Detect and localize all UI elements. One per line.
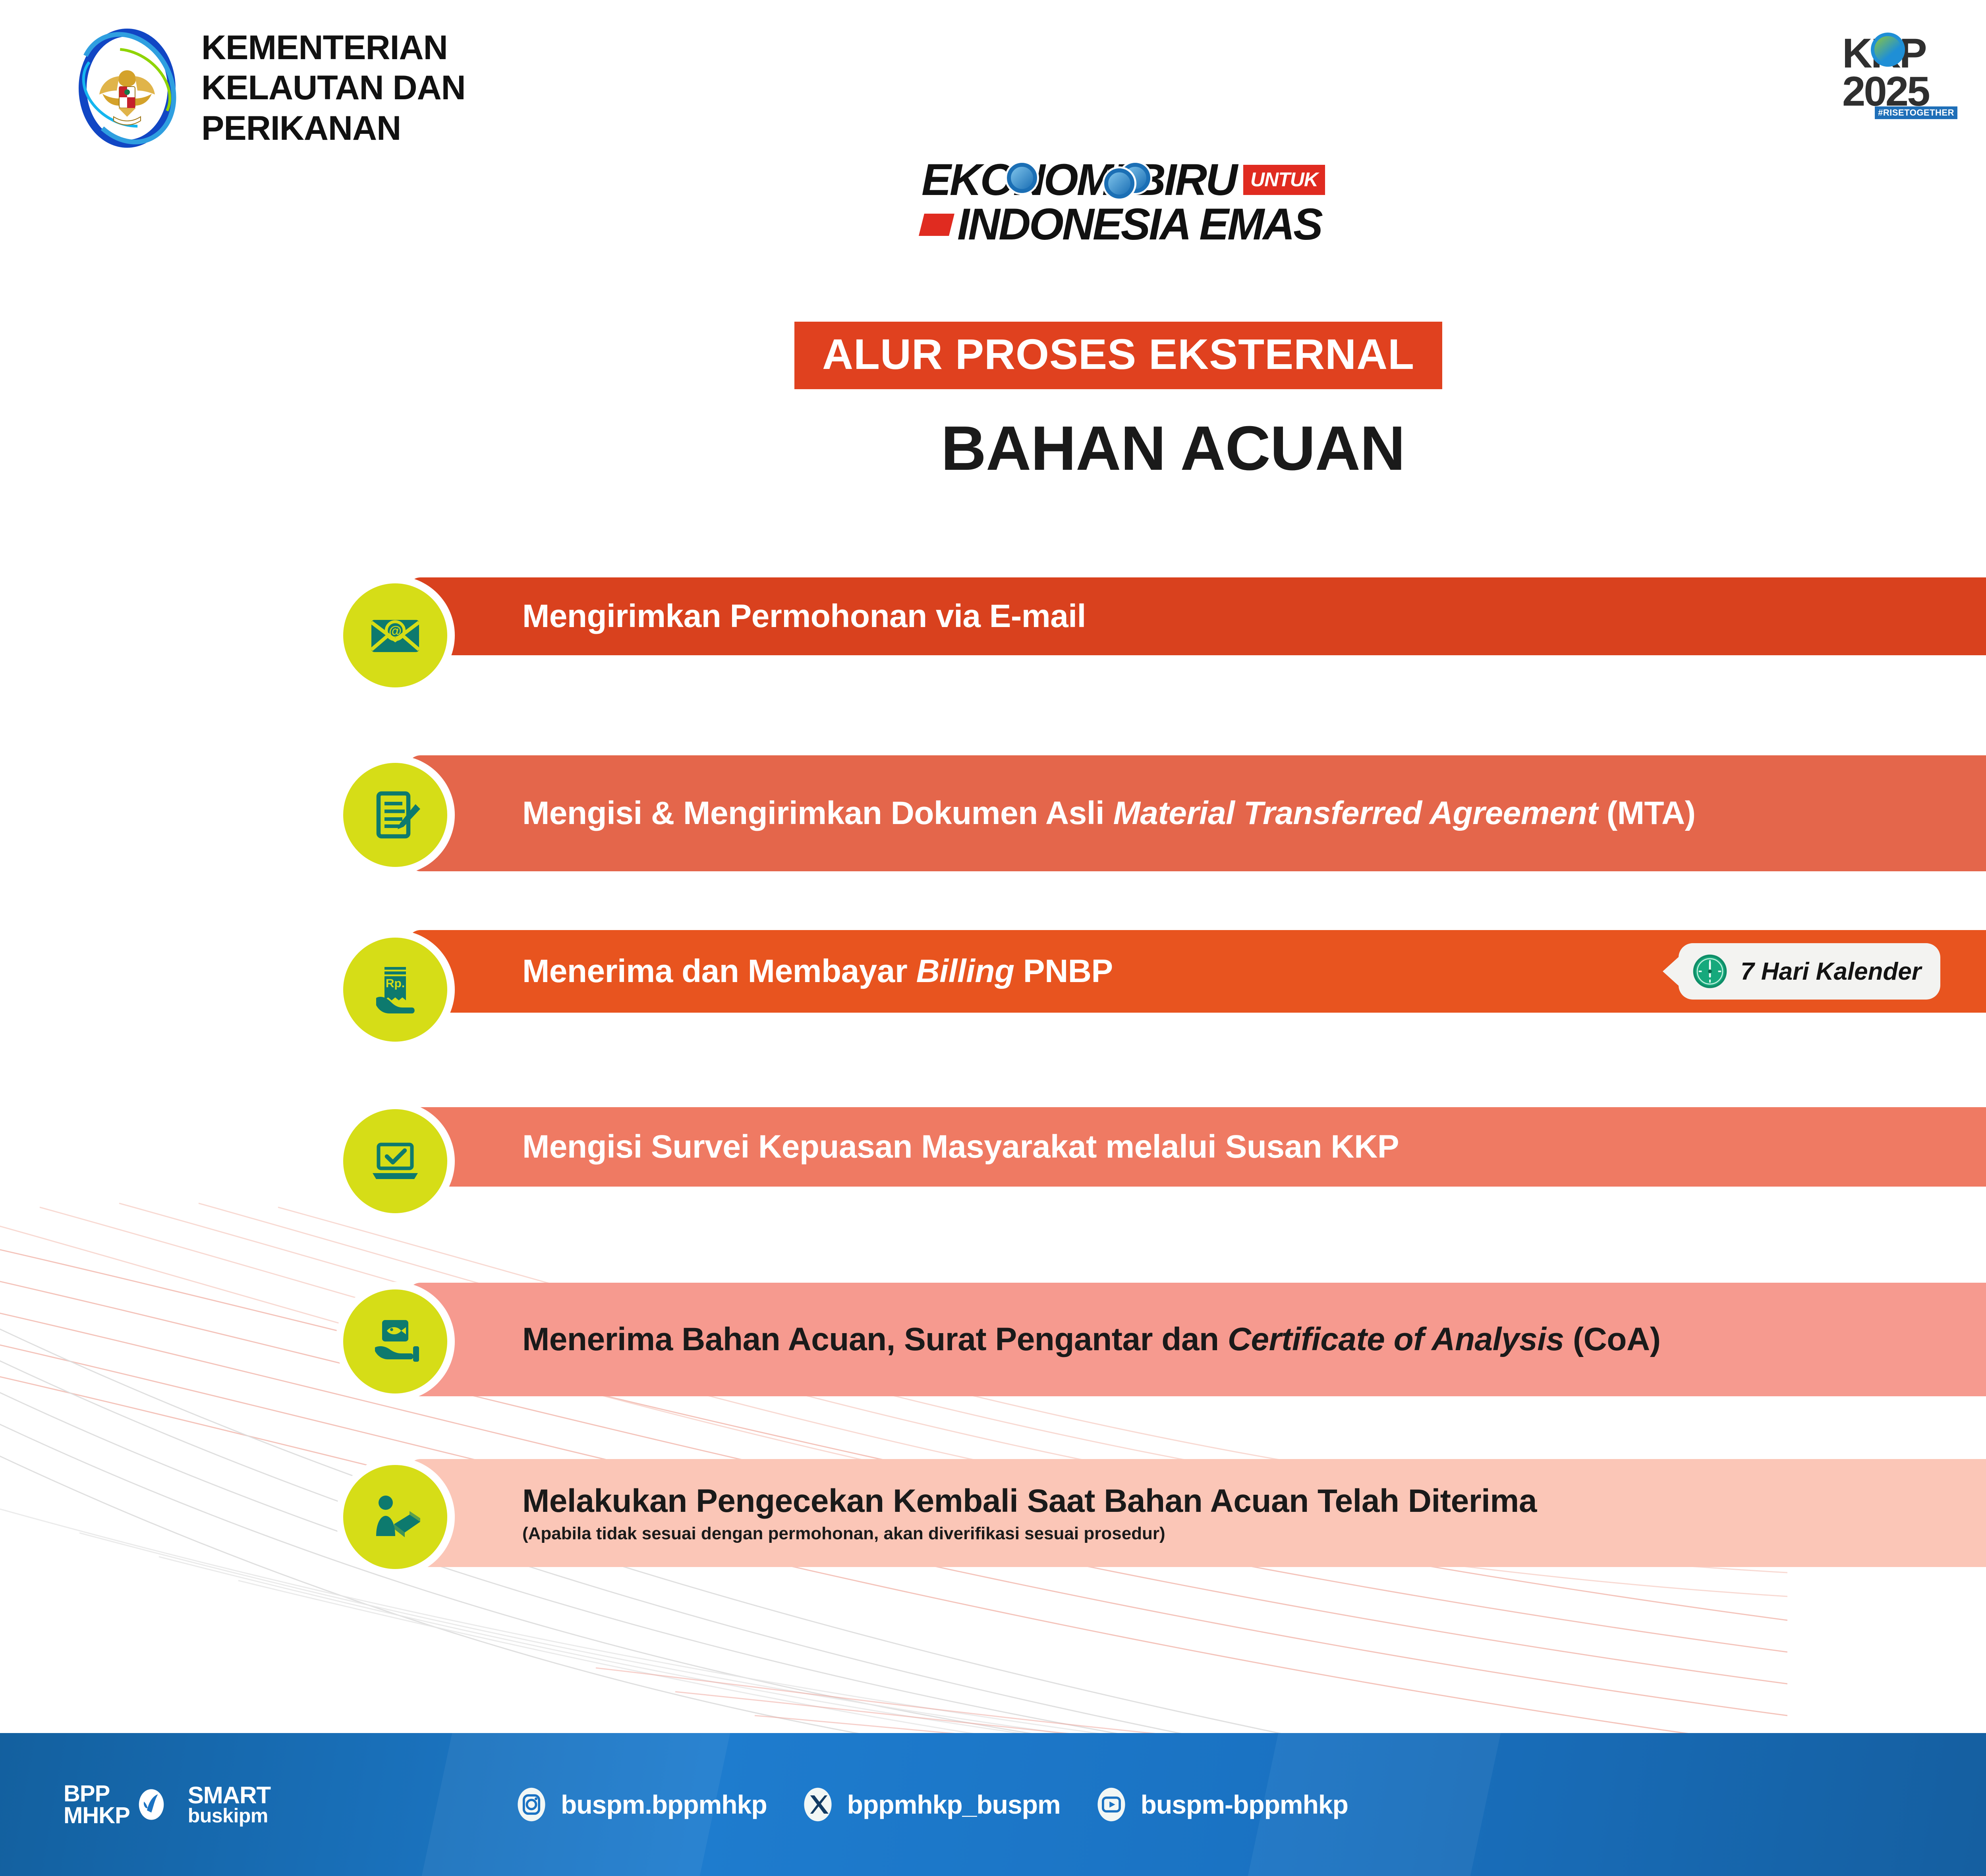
step-icon-badge xyxy=(336,755,455,874)
email-at-icon: @ xyxy=(343,583,447,687)
step-bar[interactable]: Melakukan Pengecekan Kembali Saat Bahan … xyxy=(407,1459,1986,1567)
document-pen-icon xyxy=(343,763,447,867)
x-twitter-handle: bppmhkp_buspm xyxy=(847,1789,1061,1820)
step-bar[interactable]: Mengisi & Mengirimkan Dokumen Asli Mater… xyxy=(407,755,1986,871)
step-label: Mengirimkan Permohonan via E-mail xyxy=(522,597,1984,636)
step-icon-badge xyxy=(336,1282,455,1401)
ministry-name-line2: KELAUTAN DAN xyxy=(201,68,466,108)
x-twitter-icon xyxy=(799,1785,837,1824)
ministry-lockup: KEMENTERIAN KELAUTAN DAN PERIKANAN xyxy=(73,28,466,149)
bpp-smart-lockup: BPP MHKP SMART buskipm xyxy=(64,1783,270,1826)
step-bar[interactable]: Mengirimkan Permohonan via E-mail xyxy=(407,577,1986,655)
duration-pill: 7 Hari Kalender xyxy=(1679,943,1940,1000)
step-bar[interactable]: Mengisi Survei Kepuasan Masyarakat melal… xyxy=(407,1107,1986,1187)
tagline-line2: INDONESIA EMAS xyxy=(957,203,1321,245)
title-banner-text: ALUR PROSES EKSTERNAL xyxy=(822,330,1414,378)
step-label: Mengisi & Mengirimkan Dokumen Asli Mater… xyxy=(522,794,1984,833)
social-link-youtube[interactable]: buspm-bppmhkp xyxy=(1092,1785,1348,1824)
process-step: Mengirimkan Permohonan via E-mail @ xyxy=(0,575,1986,750)
bpp-line2: MHKP xyxy=(64,1803,130,1828)
step-icon-badge: @ xyxy=(336,576,455,695)
partner-logos: KKP 2025 #RISETOGETHER panganbiru 0 % 8 … xyxy=(1842,35,1986,114)
duration-arrow-icon xyxy=(1663,956,1679,986)
smart-line1: SMART xyxy=(188,1784,270,1807)
social-links: buspm.bppmhkp bppmhkp_buspm buspm-bppmhk… xyxy=(512,1785,1348,1824)
process-step: Mengisi Survei Kepuasan Masyarakat melal… xyxy=(0,1099,1986,1274)
step-note: (Apabila tidak sesuai dengan permohonan,… xyxy=(522,1523,1984,1544)
duration-label: 7 Hari Kalender xyxy=(1741,957,1921,986)
step-icon-badge xyxy=(336,1457,455,1577)
garuda-pancasila-seal-icon xyxy=(73,29,181,148)
title-banner: ALUR PROSES EKSTERNAL xyxy=(794,322,1442,389)
duration-badge: 7 Hari Kalender xyxy=(1663,943,1940,1000)
page-title: BAHAN ACUAN xyxy=(0,417,1986,480)
step-icon-badge xyxy=(336,1102,455,1221)
process-step: Melakukan Pengecekan Kembali Saat Bahan … xyxy=(0,1449,1986,1623)
ministry-name: KEMENTERIAN KELAUTAN DAN PERIKANAN xyxy=(201,28,466,149)
kkp-ring-icon xyxy=(1871,33,1905,67)
hand-holding-fish-box-icon xyxy=(343,1289,447,1393)
ekonomi-biru-tagline: EKONOMI BIRU UNTUK INDONESIA EMAS xyxy=(922,159,1438,246)
tagline-red-slab-icon xyxy=(919,214,954,236)
step-bar[interactable]: Menerima Bahan Acuan, Surat Pengantar da… xyxy=(407,1283,1986,1396)
instagram-icon xyxy=(512,1785,551,1824)
step-label: Menerima Bahan Acuan, Surat Pengantar da… xyxy=(522,1320,1984,1359)
instagram-handle: buspm.bppmhkp xyxy=(561,1789,767,1820)
fish-swoosh-icon xyxy=(133,1786,170,1823)
tagline-ring-icon-3 xyxy=(1104,168,1134,199)
youtube-icon xyxy=(1092,1785,1130,1824)
laptop-check-icon xyxy=(343,1109,447,1213)
kkp-tagline: #RISETOGETHER xyxy=(1875,106,1957,119)
payment-receipt-rupiah-icon: Rp. xyxy=(343,938,447,1042)
step-label: Melakukan Pengecekan Kembali Saat Bahan … xyxy=(522,1482,1984,1521)
tagline-ring-icon-1 xyxy=(1007,163,1037,193)
step-label: Mengisi Survei Kepuasan Masyarakat melal… xyxy=(522,1127,1984,1166)
process-step: Menerima dan Membayar Billing PNBP xyxy=(0,924,1986,1099)
svg-text:Rp.: Rp. xyxy=(386,977,405,990)
svg-text:@: @ xyxy=(389,623,402,638)
ministry-name-line3: PERIKANAN xyxy=(201,108,466,149)
tagline-line1: EKONOMI BIRU xyxy=(922,159,1236,201)
ministry-name-line1: KEMENTERIAN xyxy=(201,28,466,68)
process-step: Menerima Bahan Acuan, Surat Pengantar da… xyxy=(0,1274,1986,1449)
smart-buskipm-logo: SMART buskipm xyxy=(188,1784,270,1826)
process-flow-list: Mengirimkan Permohonan via E-mail @ Meng… xyxy=(0,575,1986,1623)
step-icon-badge: Rp. xyxy=(336,930,455,1049)
kkp-year: 2025 xyxy=(1842,73,1957,111)
youtube-handle: buspm-bppmhkp xyxy=(1141,1789,1348,1820)
process-step: Mengisi & Mengirimkan Dokumen Asli Mater… xyxy=(0,750,1986,924)
smart-line2: buskipm xyxy=(188,1807,270,1826)
bpp-text: BPP MHKP xyxy=(64,1783,130,1826)
kkp-2025-logo: KKP 2025 #RISETOGETHER xyxy=(1842,35,1957,114)
social-link-instagram[interactable]: buspm.bppmhkp xyxy=(512,1785,767,1824)
page-footer: BPP MHKP SMART buskipm buspm.bppmhkp xyxy=(0,1733,1986,1876)
person-opening-box-icon xyxy=(343,1465,447,1569)
page-header: KEMENTERIAN KELAUTAN DAN PERIKANAN KKP 2… xyxy=(0,0,1986,175)
step-bar[interactable]: Menerima dan Membayar Billing PNBP xyxy=(407,930,1986,1013)
clock-icon xyxy=(1691,953,1729,990)
social-link-x-twitter[interactable]: bppmhkp_buspm xyxy=(799,1785,1061,1824)
tagline-badge-untuk: UNTUK xyxy=(1243,165,1325,195)
bpp-mhkp-logo: BPP MHKP xyxy=(64,1783,170,1826)
